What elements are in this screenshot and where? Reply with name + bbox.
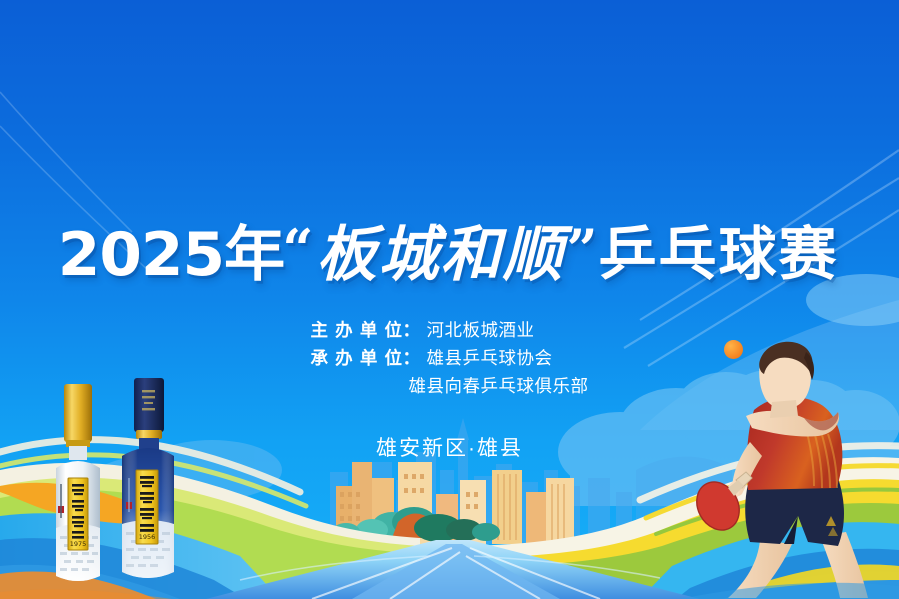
organiser-colon-host: ：	[403, 320, 421, 340]
title-block: 2025年“板城和顺”乒乓球赛	[0, 216, 899, 290]
poster-canvas: 2025年“板城和顺”乒乓球赛 主办单位：河北板城酒业 承办单位：雄县乒乓球协会…	[0, 0, 899, 599]
organiser-value-club: 雄县向春乒乓球俱乐部	[403, 372, 589, 400]
title-event: 乒乓球赛	[599, 220, 839, 290]
title-quote-close: ”	[566, 214, 598, 284]
paddle-icon	[689, 472, 752, 537]
bottle-group: 1975	[38, 378, 228, 599]
title-year: 2025年	[58, 220, 284, 290]
title-brand: 板城和顺	[314, 220, 566, 290]
svg-text:1975: 1975	[70, 540, 87, 548]
organiser-row-host: 主办单位：河北板城酒业	[311, 316, 589, 344]
bottle-blue-1956: 1956	[122, 378, 174, 578]
svg-text:1956: 1956	[139, 533, 156, 541]
organiser-value-coorganiser: 雄县乒乓球协会	[421, 344, 579, 372]
organiser-label-host: 主办单位	[311, 316, 403, 344]
organiser-colon-coorganiser: ：	[403, 348, 421, 368]
organiser-row-coorganiser: 承办单位：雄县乒乓球协会	[311, 344, 589, 372]
title-quote-open: “	[282, 214, 314, 284]
venue-text: 雄安新区·雄县	[0, 432, 899, 462]
organiser-list: 主办单位：河北板城酒业 承办单位：雄县乒乓球协会 雄县向春乒乓球俱乐部	[0, 316, 899, 400]
page-title: 2025年“板城和顺”乒乓球赛	[60, 216, 838, 290]
organiser-value-host: 河北板城酒业	[421, 316, 579, 344]
bottle-white-1975: 1975	[56, 384, 100, 581]
organiser-row-club: 雄县向春乒乓球俱乐部	[311, 372, 589, 400]
organiser-label-coorganiser: 承办单位	[311, 344, 403, 372]
